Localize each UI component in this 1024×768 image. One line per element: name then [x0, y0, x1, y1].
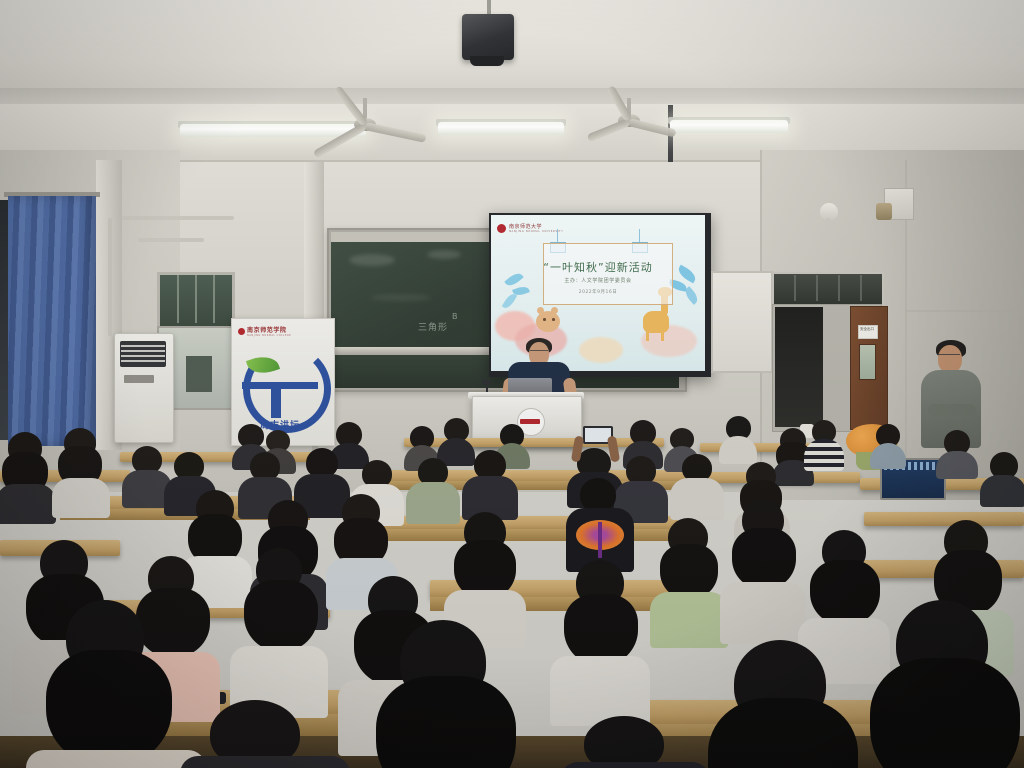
door-transom-window: [772, 272, 884, 308]
speaker-glasses-icon: [530, 350, 548, 355]
air-conditioner-display: [124, 375, 154, 383]
wall-conduit: [138, 238, 204, 242]
standing-man-crossed-arms: [928, 404, 976, 416]
torso: [406, 482, 460, 524]
ponytail: [376, 676, 516, 768]
torso: [936, 451, 978, 479]
desk-row: [864, 512, 1024, 526]
butterfly-body: [598, 522, 602, 558]
standing-man-head: [938, 345, 962, 373]
slide-giraffe-icon: [661, 331, 664, 341]
grille-slat: [121, 360, 165, 362]
open-doorway: [775, 307, 823, 427]
torso: [52, 478, 110, 518]
slide-decoration-blob: [579, 337, 623, 363]
transom-mullion: [794, 275, 796, 301]
torso: [670, 478, 724, 520]
grille-slat: [121, 355, 165, 357]
door-sign-text: 安全出口: [858, 327, 876, 332]
window-mullion: [177, 275, 179, 323]
door-window: [859, 344, 876, 380]
standee-logo-stem: [271, 388, 281, 418]
grille-slat: [121, 350, 165, 352]
wall-pipe: [826, 218, 830, 236]
head: [584, 716, 664, 768]
fluorescent-tube-light: [670, 120, 788, 133]
chalkboard-writing: B: [452, 312, 459, 321]
torso: [650, 592, 728, 648]
chalkboard-writing: 三角形: [418, 320, 448, 333]
torso: [26, 750, 206, 768]
window-mullion: [213, 275, 215, 323]
slide-logo-text: 南京师范大学: [509, 223, 563, 230]
standing-man-glasses-icon: [938, 354, 960, 359]
standee-caption: 周末讲坛: [260, 418, 300, 431]
ponytail: [870, 658, 1020, 768]
torso: [980, 475, 1024, 507]
torso: [560, 762, 710, 768]
chalk-smudge: [371, 294, 431, 301]
torso: [0, 484, 56, 524]
slide-subtitle: 主办：人文学院团学委员会: [491, 277, 705, 284]
ceiling-projector: [462, 14, 514, 60]
ponytail: [136, 588, 210, 658]
slide-bear-icon: [536, 311, 560, 332]
lecture-hall-photo: 三角形 B 南京师范大学 NANJING N: [0, 0, 1024, 768]
projector-lens: [470, 56, 504, 66]
wall-seam: [906, 310, 1024, 312]
torso: [550, 656, 650, 726]
slide-date: 2022年9月16日: [491, 289, 705, 295]
torso-striped: [804, 439, 844, 471]
transom-mullion: [816, 275, 818, 301]
chalk-smudge: [349, 254, 395, 266]
grille-slat: [121, 345, 165, 347]
head: [580, 478, 616, 512]
slide-title: “一叶知秋”迎新活动: [491, 259, 705, 275]
chalk-smudge: [427, 250, 461, 259]
fluorescent-tube-light: [180, 124, 366, 137]
torso: [719, 436, 757, 464]
fluorescent-tube-light: [438, 122, 564, 135]
microphone: [482, 380, 491, 385]
projection-screen: 南京师范大学 NANJING NORMAL UNIVERSITY “一叶知秋”迎…: [491, 215, 705, 371]
standee-org-name-en: NANJING NORMAL COLLEGE: [247, 334, 291, 337]
standee-org-name: 南京师范学院: [247, 325, 291, 334]
slide-giraffe-icon: [646, 331, 649, 341]
slide-logo-subtext: NANJING NORMAL UNIVERSITY: [509, 230, 563, 233]
college-seal-icon: [238, 328, 245, 335]
university-seal-icon: [497, 224, 506, 233]
wall-conduit: [108, 218, 112, 336]
ponytail: [810, 560, 880, 626]
standee-header: 南京师范学院 NANJING NORMAL COLLEGE: [238, 325, 291, 337]
notice-board: [711, 271, 773, 373]
slide-logo: 南京师范大学 NANJING NORMAL UNIVERSITY: [497, 223, 563, 233]
transom-mullion: [860, 275, 862, 301]
torso: [720, 582, 806, 644]
slide-hanger-string: [557, 229, 558, 243]
transom-mullion: [838, 275, 840, 301]
window-mullion: [195, 275, 197, 323]
podium-emblem-bar: [520, 419, 540, 424]
ponytail: [244, 580, 318, 652]
rear-window-dark-pane: [186, 356, 212, 392]
slide-hanger-string: [639, 229, 640, 243]
slide-bear-icon: [543, 318, 546, 321]
window-curtain: [8, 196, 96, 446]
torso: [180, 756, 350, 768]
wall-speaker: [876, 203, 892, 220]
slide-bear-icon: [552, 318, 555, 321]
wall-conduit: [122, 216, 234, 220]
ponytail: [732, 528, 796, 590]
